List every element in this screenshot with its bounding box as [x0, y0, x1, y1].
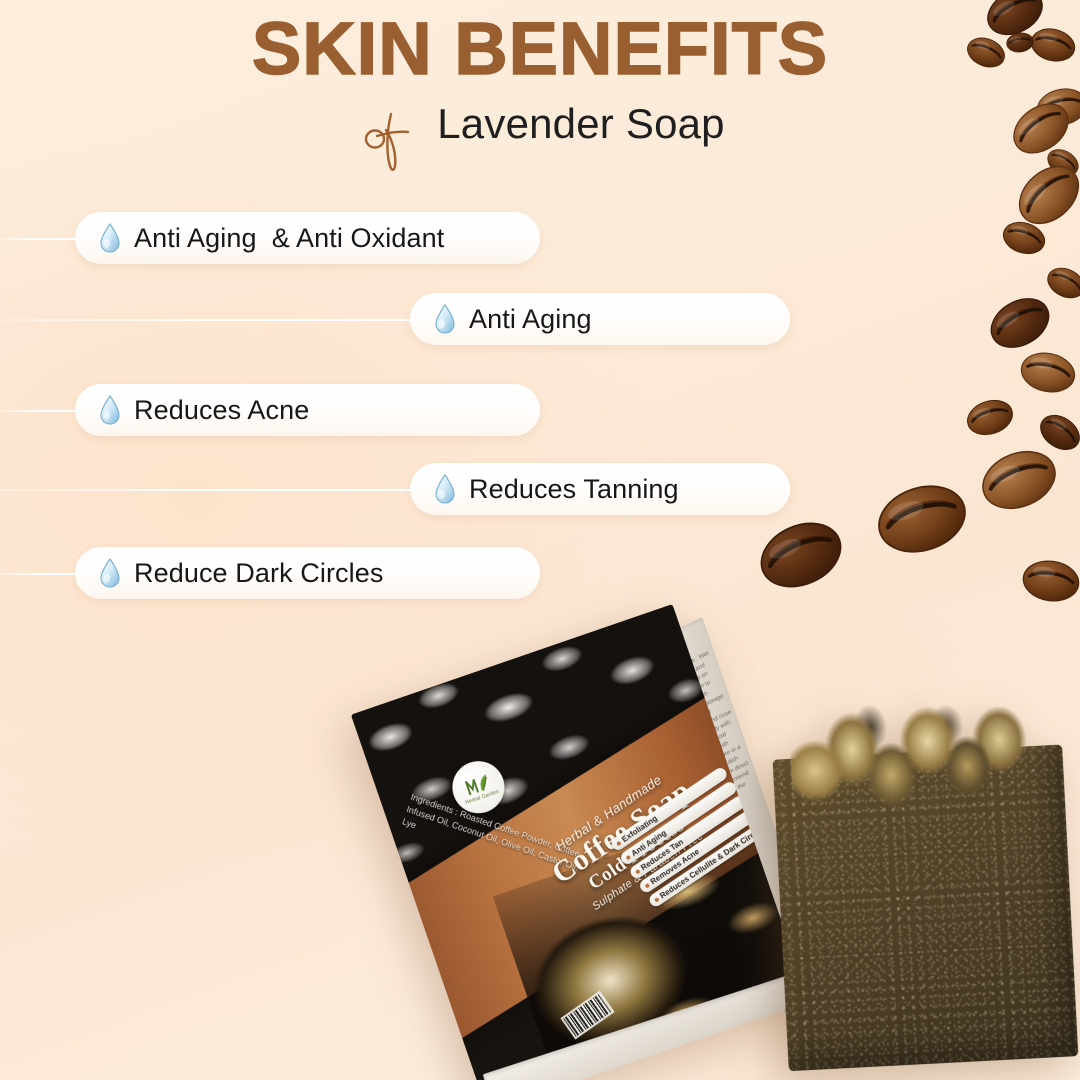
benefit-connector-line — [0, 410, 80, 412]
bullet-dot-icon — [625, 854, 631, 860]
water-drop-icon — [99, 558, 121, 588]
bullet-dot-icon — [654, 897, 660, 903]
coffee-bean-icon — [1019, 556, 1080, 606]
benefit-pill[interactable]: Anti Aging — [410, 293, 790, 345]
bullet-dot-icon — [615, 840, 621, 846]
benefit-connector-line — [0, 238, 80, 240]
benefit-label: Reduces Acne — [134, 395, 309, 426]
water-drop-icon — [434, 474, 456, 504]
benefit-pill[interactable]: Reduces Tanning — [410, 463, 790, 515]
page-subtitle: Lavender Soap — [437, 102, 725, 146]
benefit-connector-line — [0, 319, 415, 321]
soap-bar-textured-top — [788, 697, 1031, 823]
subtitle-row: Lavender Soap — [0, 102, 1080, 172]
coffee-bean-icon — [962, 393, 1018, 441]
benefit-label: Reduce Dark Circles — [134, 558, 383, 589]
bullet-dot-icon — [644, 882, 650, 888]
benefit-pill[interactable]: Anti Aging & Anti Oxidant — [75, 212, 540, 264]
coffee-bean-icon — [981, 287, 1059, 359]
coffee-bean-icon — [972, 439, 1065, 520]
benefit-label: Anti Aging & Anti Oxidant — [134, 223, 444, 254]
water-drop-icon — [99, 223, 121, 253]
page-title: SKIN BENEFITS — [0, 12, 1080, 86]
benefit-pill[interactable]: Reduce Dark Circles — [75, 547, 540, 599]
benefit-label: Anti Aging — [469, 304, 592, 335]
bullet-dot-icon — [635, 868, 641, 874]
coffee-soap-bar — [745, 679, 1080, 1080]
box-front-face: Herbal Garden Ingredients : Roasted Coff… — [351, 604, 809, 1080]
water-drop-icon — [99, 395, 121, 425]
benefit-connector-line — [0, 573, 80, 575]
benefit-label: Reduces Tanning — [469, 474, 679, 505]
coffee-bean-icon — [1041, 261, 1080, 305]
of-script-icon — [361, 106, 423, 172]
benefit-connector-line — [0, 489, 415, 491]
benefit-pill[interactable]: Reduces Acne — [75, 384, 540, 436]
product-box: Directions : Wet the soap and rub gently… — [351, 604, 809, 1080]
coffee-bean-icon — [749, 509, 853, 601]
infographic-canvas: SKIN BENEFITS Lavender Soap Anti Aging &… — [0, 0, 1080, 1080]
coffee-bean-icon — [1016, 347, 1079, 399]
header-block: SKIN BENEFITS Lavender Soap — [0, 12, 1080, 172]
water-drop-icon — [434, 304, 456, 334]
coffee-bean-icon — [868, 473, 976, 564]
